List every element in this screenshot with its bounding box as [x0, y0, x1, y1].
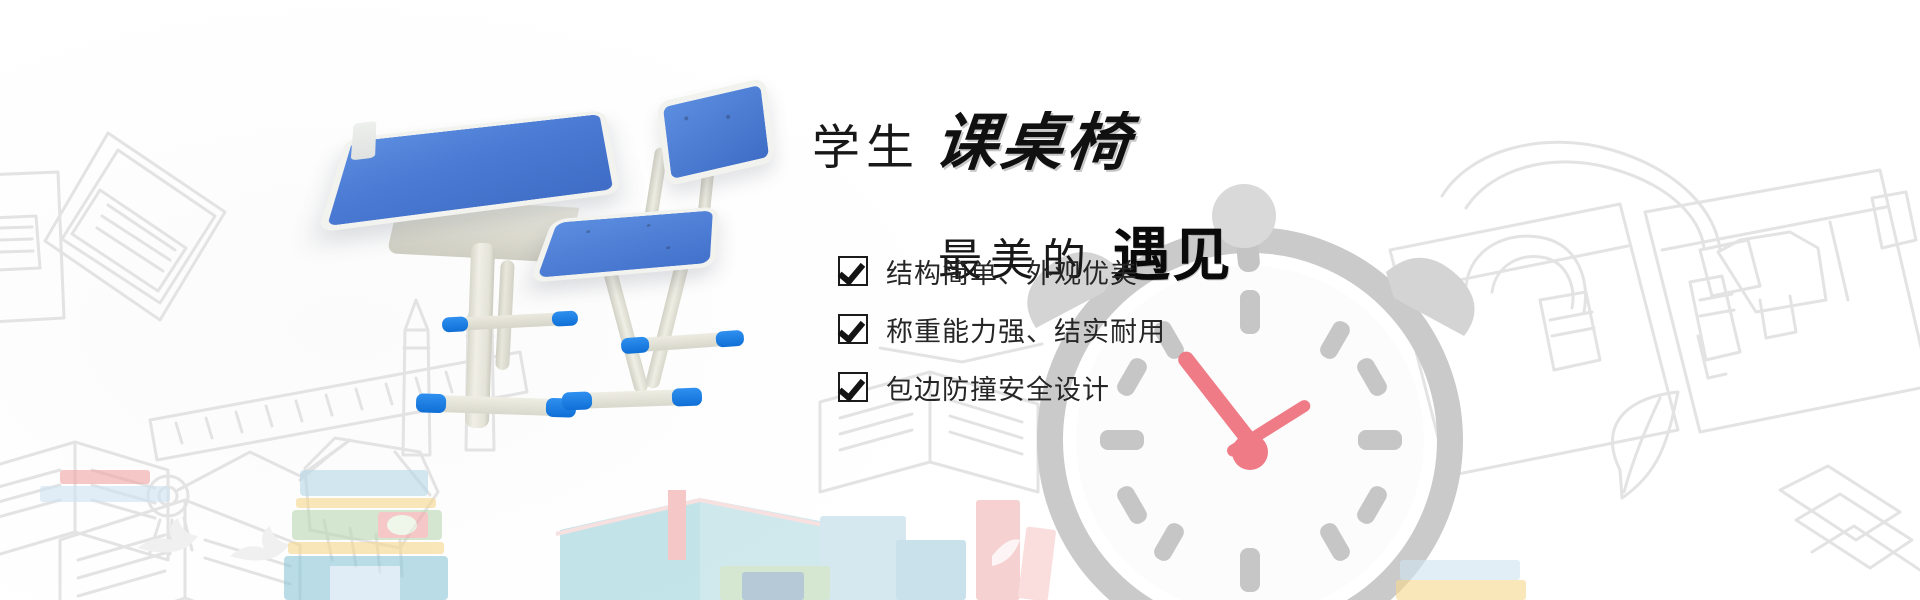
checkbox-checked-icon — [838, 314, 868, 344]
chair-foot-cap-left — [562, 391, 593, 410]
checkbox-checked-icon — [838, 372, 868, 402]
chair-seat-screw-2 — [646, 224, 650, 227]
feature-label: 称重能力强、结实耐用 — [886, 310, 1166, 349]
desk-pen-groove — [351, 121, 377, 160]
list-item: 结构简单、外观优美 — [838, 250, 1166, 292]
chair-backrest-panel — [656, 77, 775, 186]
chair-leg-right — [644, 260, 689, 390]
open-book-dove-outline — [60, 500, 300, 600]
chair-crossbar — [630, 331, 736, 352]
list-item: 称重能力强、结实耐用 — [838, 308, 1166, 350]
notebook-outline — [0, 133, 225, 322]
desk-foot-cap-left — [416, 393, 447, 413]
desk-foot-bar — [426, 395, 567, 417]
feature-label: 结构简单、外观优美 — [886, 252, 1138, 291]
product-image-desk-and-chair — [330, 75, 810, 465]
chair-foot-bar — [572, 389, 692, 409]
leaf-outline — [1612, 392, 1678, 498]
chair-seat-screw-3 — [666, 246, 670, 249]
chair-foot-cap-right — [672, 388, 703, 407]
book-stack-outline-right — [1780, 466, 1920, 570]
desk-crossbar-cap-left — [442, 316, 469, 332]
open-book-outline — [0, 442, 168, 560]
headline-brush: 课桌椅 — [932, 92, 1139, 182]
chair-seat-screw-1 — [586, 230, 591, 233]
checkbox-checked-icon — [838, 256, 868, 286]
promo-banner: 学生 课桌椅 最美的 遇见 结构简单、外观优美 称重能力强、结实耐用 包边防撞安… — [0, 0, 1920, 600]
desk-crossbar-cap-right — [552, 310, 579, 326]
headline-line-1: 学生 课桌椅 — [812, 92, 1272, 182]
feature-list: 结构简单、外观优美 称重能力强、结实耐用 包边防撞安全设计 — [838, 250, 1166, 424]
chair-crossbar-cap-right — [715, 330, 744, 348]
list-item: 包边防撞安全设计 — [838, 366, 1166, 408]
satchel-outline — [1645, 170, 1920, 432]
chair-leg-left — [601, 260, 649, 394]
feature-label: 包边防撞安全设计 — [886, 368, 1110, 407]
headline-prefix: 学生 — [812, 108, 920, 178]
backpack-outline — [1232, 142, 1760, 476]
dove-outline — [138, 518, 290, 561]
chair-back-screw-2 — [726, 114, 730, 119]
chair-back-screw-1 — [684, 116, 688, 121]
chair-crossbar-cap-left — [621, 336, 650, 354]
